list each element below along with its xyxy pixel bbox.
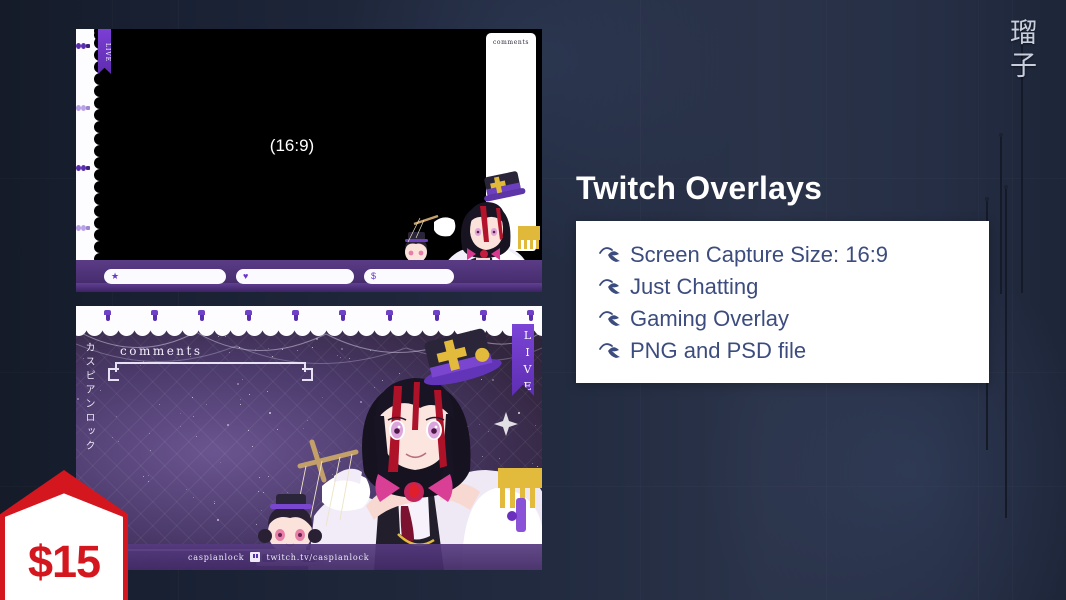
sparkle-dot xyxy=(159,404,160,405)
sparkle-dot xyxy=(339,481,340,482)
sparkle-dot xyxy=(499,458,500,459)
dollar-icon: $ xyxy=(371,272,376,281)
scallop-notch xyxy=(118,319,135,336)
sparkle-dot xyxy=(214,501,215,502)
sparkle-dot xyxy=(220,462,221,463)
sparkle-dot xyxy=(149,433,150,434)
sparkle-dot xyxy=(362,446,363,447)
sparkle-dot xyxy=(240,404,241,405)
scallop-notch xyxy=(406,319,423,336)
sparkle-dot xyxy=(477,490,479,492)
bow-ornament-icon xyxy=(81,165,94,171)
sparkle-dot xyxy=(240,399,241,400)
scallop-notch xyxy=(454,319,471,336)
sparkle-dot xyxy=(269,412,271,414)
scallop-notch xyxy=(246,319,263,336)
scallop-notch xyxy=(150,319,167,336)
feature-label: Just Chatting xyxy=(630,271,758,303)
sparkle-dot xyxy=(415,512,416,513)
sparkle-dot xyxy=(259,477,260,478)
scallop-curtain-header xyxy=(76,306,542,328)
scallop-notch xyxy=(326,319,343,336)
sparkle-dot xyxy=(319,452,320,453)
sparkle-dot xyxy=(388,536,389,537)
sparkle-dot xyxy=(518,412,520,414)
sparkle-dot xyxy=(360,401,362,403)
info-field-heart[interactable]: ♥ xyxy=(236,269,354,284)
sparkle-dot xyxy=(404,450,405,451)
scallop-notch xyxy=(310,319,327,336)
scallop-notch xyxy=(486,319,503,336)
comments-label: comments xyxy=(486,33,536,46)
sparkle-dot xyxy=(148,481,149,482)
swallow-bird-icon xyxy=(598,308,628,330)
sparkle-dot xyxy=(283,519,284,520)
sparkle-dot xyxy=(77,398,79,400)
sparkle-dot xyxy=(249,394,250,395)
feature-label: PNG and PSD file xyxy=(630,335,806,367)
swallow-bird-icon xyxy=(598,340,628,362)
scallop-notch xyxy=(470,319,487,336)
sparkle-dot xyxy=(214,503,215,504)
pin-bow-icon xyxy=(198,310,205,321)
feature-item: PNG and PSD file xyxy=(598,335,989,367)
sparkle-dot xyxy=(322,397,323,398)
sparkle-dot xyxy=(100,390,101,391)
sparkle-dot xyxy=(413,456,414,457)
sparkle-dot xyxy=(447,453,448,454)
heart-icon: ♥ xyxy=(243,272,248,281)
sparkle-dot xyxy=(488,431,489,432)
bottom-info-bar: ★ ♥ $ xyxy=(76,260,542,292)
sparkle-dot xyxy=(150,450,151,451)
price-badge: $15 xyxy=(0,470,128,600)
scallop-notch xyxy=(374,319,391,336)
scallop-notch xyxy=(390,319,407,336)
sparkle-dot xyxy=(535,425,536,426)
swallow-bird-icon xyxy=(598,276,628,298)
pin-bow-icon xyxy=(245,310,252,321)
sparkle-dot xyxy=(532,463,533,464)
decor-pin-line xyxy=(1005,188,1007,518)
sparkle-dot xyxy=(457,428,458,429)
feature-list-card: Screen Capture Size: 16:9 Just Chatting … xyxy=(576,221,989,383)
pin-bow-icon xyxy=(292,310,299,321)
sparkle-dot xyxy=(433,514,434,515)
sparkle-dot xyxy=(148,475,149,476)
sparkle-dot xyxy=(248,430,249,431)
sparkle-dot xyxy=(334,523,335,524)
footer-bar: caspianlock twitch.tv/caspianlock xyxy=(76,544,542,570)
comments-panel-top: comments xyxy=(486,33,536,251)
sparkle-dot xyxy=(112,437,113,438)
sparkle-dot xyxy=(268,476,269,477)
vertical-japanese-name: 瑠子 xyxy=(1001,18,1040,84)
sparkle-dot xyxy=(217,519,219,521)
bow-ornament-icon xyxy=(81,225,94,231)
sparkle-dot xyxy=(192,397,193,398)
scallop-notch xyxy=(182,319,199,336)
scallop-notch xyxy=(198,319,215,336)
bow-ornament-icon xyxy=(81,43,94,49)
sparkle-dot xyxy=(340,461,341,462)
page-title: Twitch Overlays xyxy=(576,170,989,207)
sparkle-dot xyxy=(535,493,536,494)
sparkle-dot xyxy=(116,416,117,417)
scallop-notch xyxy=(422,319,439,336)
gaming-overlay-mockup: (16:9) LIVE comments xyxy=(76,29,542,292)
comments-frame-top xyxy=(115,362,306,372)
sparkle-dot xyxy=(258,491,259,492)
sparkle-dot xyxy=(206,404,207,405)
sparkle-dot xyxy=(118,441,119,442)
pin-bow-icon xyxy=(151,310,158,321)
pin-bow-icon xyxy=(480,310,487,321)
sparkle-dot xyxy=(403,494,404,495)
sparkle-dot xyxy=(384,435,385,436)
scallop-notch xyxy=(214,319,231,336)
bg-stripe xyxy=(1012,0,1013,600)
sparkle-dot xyxy=(426,452,427,453)
info-field-dollar[interactable]: $ xyxy=(364,269,454,284)
capture-area: (16:9) xyxy=(98,29,486,262)
sparkle-dot xyxy=(283,535,284,536)
sparkle-dot xyxy=(193,497,194,498)
sparkle-dot xyxy=(180,413,181,414)
sparkle-dot xyxy=(429,455,430,456)
twitch-url-label: twitch.tv/caspianlock xyxy=(266,553,369,562)
sparkle-dot xyxy=(303,428,304,429)
sparkle-dot xyxy=(277,429,278,430)
twitch-icon xyxy=(250,552,260,562)
scallop-notch xyxy=(342,319,359,336)
feature-item: Screen Capture Size: 16:9 xyxy=(598,239,989,271)
sparkle-dot xyxy=(308,524,309,525)
sparkle-dot xyxy=(256,524,257,525)
pin-bow-icon xyxy=(386,310,393,321)
handle-label: caspianlock xyxy=(188,553,244,562)
comments-label: comments xyxy=(120,344,203,358)
scallop-notch xyxy=(86,319,103,336)
sparkle-dot xyxy=(193,416,194,417)
sparkle-dot xyxy=(307,420,308,421)
sparkle-dot xyxy=(527,520,528,521)
sparkle-dot xyxy=(382,380,383,381)
sparkle-dot xyxy=(467,426,468,427)
sparkle-dot xyxy=(420,402,421,403)
scallop-notch xyxy=(134,319,151,336)
sparkle-dot xyxy=(403,498,404,499)
sparkle-dot xyxy=(448,529,450,531)
sparkle-dot xyxy=(482,456,483,457)
info-field-star[interactable]: ★ xyxy=(104,269,226,284)
sparkle-dot xyxy=(252,446,253,447)
swallow-bird-icon xyxy=(598,244,628,266)
sparkle-dot xyxy=(180,426,181,427)
decor-pin-line xyxy=(1000,136,1002,294)
sparkle-dot xyxy=(196,436,197,437)
sparkle-dot xyxy=(374,387,375,388)
scallop-notch xyxy=(102,319,119,336)
sparkle-dot xyxy=(332,474,333,475)
bow-ornament-icon xyxy=(81,105,94,111)
sparkle-dot xyxy=(446,522,447,523)
left-scallop-strip xyxy=(76,29,100,262)
pin-bow-icon xyxy=(433,310,440,321)
just-chatting-mockup: カスピアンロック comments LIVE xyxy=(76,306,542,570)
sparkle-dot xyxy=(365,499,367,501)
scallop-notch xyxy=(278,319,295,336)
price-amount: $15 xyxy=(0,536,128,588)
sparkle-dot xyxy=(537,466,538,467)
sparkle-dot xyxy=(479,424,480,425)
feature-label: Screen Capture Size: 16:9 xyxy=(630,239,888,271)
sparkle-dot xyxy=(227,424,229,426)
live-ribbon-top: LIVE xyxy=(98,29,111,74)
scallop-notch xyxy=(438,319,455,336)
star-icon: ★ xyxy=(111,272,119,281)
pin-bow-icon xyxy=(339,310,346,321)
feature-item: Just Chatting xyxy=(598,271,989,303)
aspect-ratio-label: (16:9) xyxy=(270,136,314,156)
sparkle-dot xyxy=(143,476,144,477)
sparkle-dot xyxy=(389,406,391,408)
vertical-katakana-name: カスピアンロック xyxy=(81,342,96,454)
sparkle-dot xyxy=(261,510,262,511)
feature-item: Gaming Overlay xyxy=(598,303,989,335)
sparkle-dot xyxy=(422,443,423,444)
overlay-info-panel: Twitch Overlays Screen Capture Size: 16:… xyxy=(576,170,989,383)
feature-label: Gaming Overlay xyxy=(630,303,789,335)
sparkle-dot xyxy=(267,391,268,392)
sparkle-dot xyxy=(186,489,187,490)
scallop-notch xyxy=(358,319,375,336)
sparkle-dot xyxy=(287,492,288,493)
sparkle-dot xyxy=(506,491,507,492)
sparkle-dot xyxy=(237,383,239,385)
sparkle-dot xyxy=(463,510,464,511)
scallop-notch xyxy=(230,319,247,336)
scallop-notch xyxy=(262,319,279,336)
pin-bow-icon xyxy=(527,310,534,321)
scallop-notch xyxy=(294,319,311,336)
scallop-notch xyxy=(166,319,183,336)
sparkle-dot xyxy=(263,492,264,493)
pin-bow-icon xyxy=(104,310,111,321)
